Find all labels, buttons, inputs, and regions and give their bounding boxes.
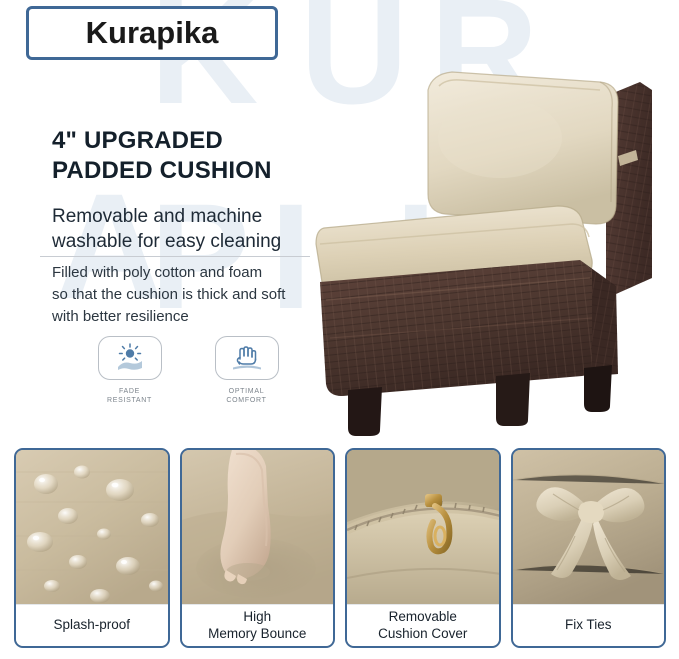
thumbnail-label-line-1: Fix Ties [565,617,612,633]
brand-badge: Kurapika [26,6,278,60]
subheadline: Removable and machine washable for easy … [52,205,281,254]
water-droplets-on-fabric-photo [16,450,168,608]
feature-optimal-comfort: OPTIMAL COMFORT [194,336,299,416]
product-photo [300,38,674,438]
thumbnail-label-line-1: Removable [389,609,457,624]
brand-name: Kurapika [86,15,219,51]
body-copy: Filled with poly cotton and foam so that… [52,262,285,329]
thumbnail-label-line-2: Memory Bounce [208,626,306,641]
thumbnail-label-line-2: Cushion Cover [378,626,467,641]
headline-line-2: PADDED CUSHION [52,156,272,186]
thumbnail-splash-proof[interactable]: Splash-proof [14,448,170,648]
feature-fade-resistant: FADE RESISTANT [77,336,182,416]
headline: 4" UPGRADED PADDED CUSHION [52,126,272,186]
hand-pressing-cushion-icon [229,343,265,373]
fade-resistant-icon-box [98,336,162,380]
feature-icon-row: FADE RESISTANT O [77,336,299,416]
body-copy-line-1: Filled with poly cotton and foam [52,262,285,284]
fabric-tie-bow-photo [513,450,665,608]
cushion-zipper-photo [347,450,499,608]
thumbnail-row: Splash-proof [14,448,666,648]
body-copy-line-2: so that the cushion is thick and soft [52,284,285,306]
thumbnail-fix-ties[interactable]: Fix Ties [511,448,667,648]
optimal-comfort-caption-line-2: COMFORT [226,397,266,404]
thumbnail-removable-cushion-cover[interactable]: Removable Cushion Cover [345,448,501,648]
thumbnail-label: Removable Cushion Cover [347,604,499,646]
sun-fade-resistant-icon [113,343,147,373]
optimal-comfort-icon-box [215,336,279,380]
thumbnail-label-line-1: High [243,609,271,624]
subheadline-line-2: washable for easy cleaning [52,230,281,255]
foot-pressing-cushion-photo [182,450,334,608]
product-infographic: K U R A P I K A [0,0,679,659]
fade-resistant-caption-line-1: FADE [119,388,140,395]
optimal-comfort-caption-line-1: OPTIMAL [229,388,265,395]
thumbnail-label: Fix Ties [513,604,665,646]
fade-resistant-caption: FADE RESISTANT [107,387,152,406]
divider [40,256,310,257]
body-copy-line-3: with better resilience [52,306,285,328]
optimal-comfort-caption: OPTIMAL COMFORT [226,387,266,406]
thumbnail-label-line-1: Splash-proof [53,617,130,633]
thumbnail-label: Splash-proof [16,604,168,646]
fade-resistant-caption-line-2: RESISTANT [107,397,152,404]
subheadline-line-1: Removable and machine [52,205,281,230]
headline-line-1: 4" UPGRADED [52,126,272,156]
thumbnail-label: High Memory Bounce [182,604,334,646]
thumbnail-high-memory-bounce[interactable]: High Memory Bounce [180,448,336,648]
